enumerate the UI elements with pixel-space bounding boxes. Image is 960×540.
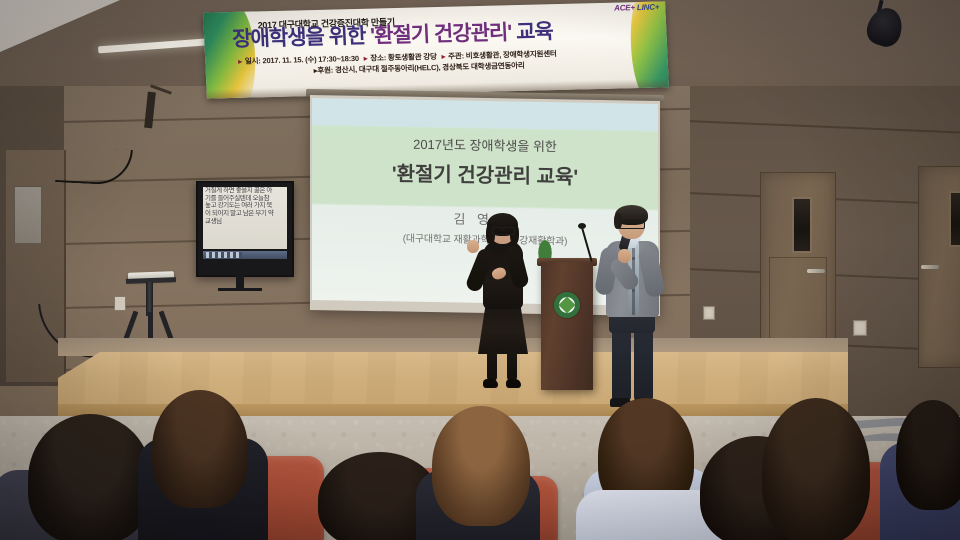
caption-text-area: 거칠게 하면 좋을지 끓은 아 기를 들어주실텐데 오늘참 높고 강기도는 여러… bbox=[203, 187, 287, 249]
wall-panel-seam bbox=[690, 120, 960, 134]
light-switch-left[interactable] bbox=[703, 306, 715, 320]
banner-logo-group: ACE+ LINC+ bbox=[614, 3, 660, 13]
podium-microphone-head bbox=[578, 223, 586, 229]
ace-logo: ACE bbox=[614, 3, 631, 12]
sign-language-interpreter bbox=[465, 216, 545, 396]
interpreter-shoe bbox=[506, 379, 521, 388]
door-handle[interactable] bbox=[807, 269, 825, 273]
speaker-hand bbox=[618, 249, 631, 263]
light-switch-right[interactable] bbox=[853, 320, 867, 336]
bullet-icon: ▸ bbox=[238, 57, 242, 66]
exit-door-2[interactable] bbox=[918, 166, 960, 368]
banner-title-part3: 교육 bbox=[511, 20, 554, 44]
banner-date-label: 일시: bbox=[245, 56, 261, 65]
speaker-leg bbox=[612, 329, 631, 401]
lecturer-speaker bbox=[592, 205, 678, 420]
banner-sponsor-label: 후원: bbox=[317, 66, 333, 75]
interpreter-leg bbox=[487, 348, 497, 382]
slide-subtitle: 2017년도 장애학생을 위한 bbox=[312, 132, 658, 157]
caption-monitor: 거칠게 하면 좋을지 끓은 아 기를 들어주실텐데 오늘참 높고 강기도는 여러… bbox=[196, 181, 294, 277]
banner-place-value: 황토생활관 강당 bbox=[388, 52, 437, 62]
caption-line: 높고 강기도는 여러 가지 북 bbox=[205, 202, 287, 210]
banner-sponsor-value: 경산시, 대구대 절주동아리(HELC), 경상북도 대학생금연동아리 bbox=[335, 61, 525, 75]
left-side-door[interactable] bbox=[6, 150, 66, 382]
event-banner: 2017 대구대학교 건강증진대학 만들기 장애학생을 위한 '환절기 건강관리… bbox=[203, 1, 669, 98]
door-handle[interactable] bbox=[921, 265, 939, 269]
lecture-hall-photo: 2017 대구대학교 건강증진대학 만들기 장애학생을 위한 '환절기 건강관리… bbox=[0, 0, 960, 540]
interpreter-dress-skirt bbox=[478, 302, 528, 354]
bullet-icon: ▸ bbox=[441, 52, 445, 61]
slide-title: '환절기 건강관리 교육' bbox=[312, 156, 658, 191]
banner-place-label: 장소: bbox=[370, 53, 386, 62]
caption-monitor-base bbox=[218, 288, 262, 291]
banner-host-label: 주관: bbox=[448, 51, 464, 60]
interpreter-glasses bbox=[492, 227, 515, 235]
banner-title-part1: 장애학생을 위한 bbox=[232, 25, 371, 51]
cardigan-button bbox=[632, 289, 635, 292]
speaker-glasses bbox=[619, 220, 645, 229]
audience-hair bbox=[28, 414, 152, 540]
left-side-door-window bbox=[14, 186, 42, 244]
linc-logo: LINC+ bbox=[637, 3, 660, 13]
interpreter-signing-hand-right bbox=[467, 240, 479, 253]
audience-hair bbox=[152, 390, 248, 508]
banner-title-highlight: '환절기 건강관리' bbox=[370, 21, 512, 47]
interpreter-leg bbox=[507, 348, 517, 382]
audience-hair bbox=[896, 400, 960, 510]
caption-line: 이 되어지 말고 남은 부기 약 bbox=[205, 210, 287, 218]
speaker-leg bbox=[634, 329, 653, 401]
cardigan-button bbox=[632, 257, 635, 260]
speaker-podium bbox=[541, 262, 593, 390]
bullet-icon: ▸ bbox=[364, 54, 368, 63]
caption-monitor-tray-icons[interactable] bbox=[206, 252, 242, 258]
audience-hair bbox=[762, 398, 870, 540]
interpreter-shoe bbox=[483, 379, 498, 388]
banner-left-graphic bbox=[203, 3, 257, 98]
caption-line: 거칠게 하면 좋을지 끓은 아 bbox=[205, 187, 287, 195]
caption-monitor-stand bbox=[236, 273, 244, 289]
audience-hair bbox=[432, 406, 530, 526]
door-window bbox=[792, 197, 812, 253]
ace-plus-superscript: + bbox=[630, 3, 635, 12]
door-window bbox=[949, 191, 960, 247]
caption-line: 교생님 bbox=[205, 218, 287, 226]
